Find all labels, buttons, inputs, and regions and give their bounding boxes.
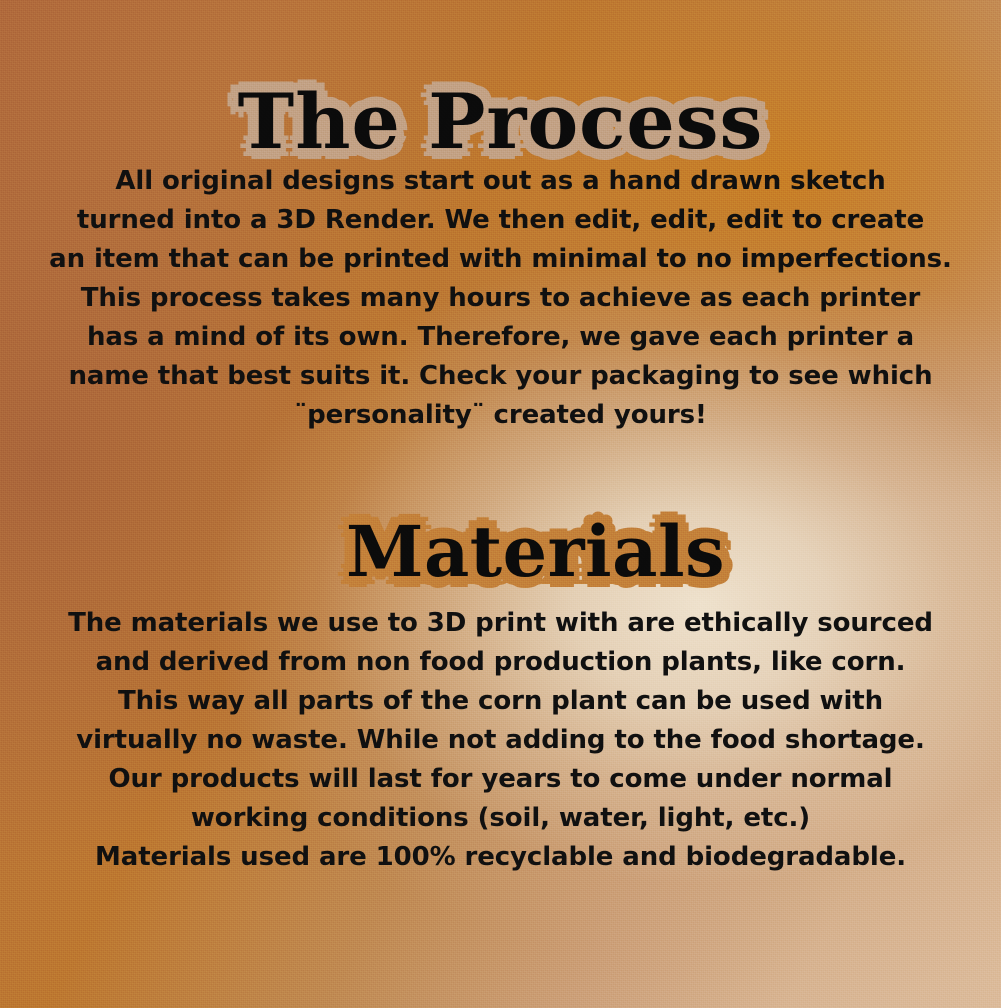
poster-canvas: The Process All original designs start o… bbox=[0, 0, 1001, 1008]
materials-heading: Materials bbox=[35, 517, 1001, 587]
poster-content: The Process All original designs start o… bbox=[0, 0, 1001, 1008]
process-heading: The Process bbox=[0, 84, 1001, 160]
materials-body-text: The materials we use to 3D print with ar… bbox=[0, 604, 1001, 877]
process-body-text: All original designs start out as a hand… bbox=[0, 162, 1001, 435]
